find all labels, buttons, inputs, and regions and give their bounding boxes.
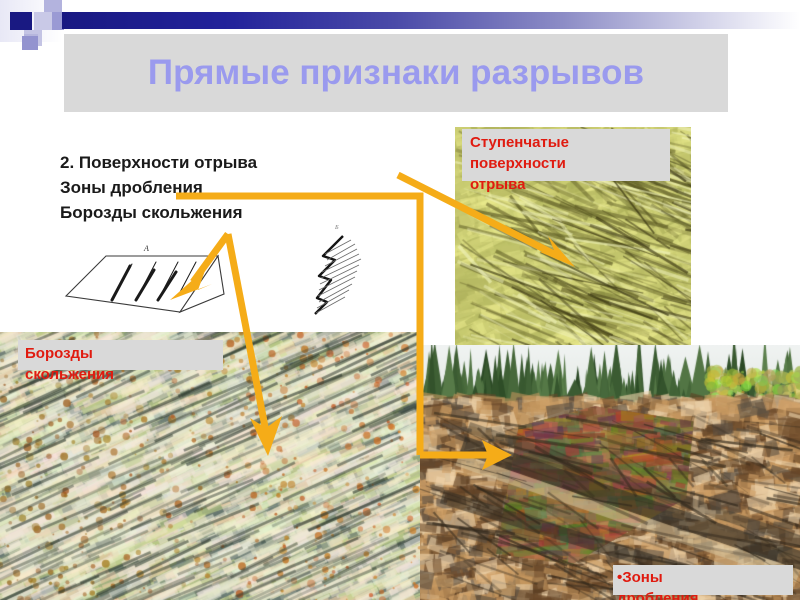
bullet-line-1: 2. Поверхности отрыва bbox=[60, 150, 390, 175]
lavender-square-a bbox=[34, 12, 52, 30]
stepped-fracture-diagram: Б bbox=[305, 220, 375, 320]
stepped-caption-line-1: Ступенчатые bbox=[470, 132, 569, 153]
navy-accent-bar bbox=[62, 12, 800, 29]
slip-plane-diagram: A bbox=[60, 240, 230, 330]
grooves-caption-line-2: скольжения bbox=[25, 364, 114, 385]
lavender-square-e bbox=[22, 36, 38, 50]
slide-canvas: Прямые признаки разрывов 2. Поверхности … bbox=[0, 0, 800, 600]
stepped-caption-line-2: поверхности bbox=[470, 153, 569, 174]
sketch-zigzag-label: Б bbox=[334, 225, 339, 231]
bullet-line-2: Зоны дробления bbox=[60, 175, 390, 200]
navy-square-deco bbox=[10, 12, 32, 30]
crush-zone-outcrop-photo bbox=[420, 345, 800, 600]
sketch-plane-label: A bbox=[143, 244, 149, 253]
stepped-caption: Ступенчатые поверхности отрыва bbox=[470, 132, 569, 195]
stepped-caption-line-3: отрыва bbox=[470, 174, 569, 195]
page-title: Прямые признаки разрывов bbox=[64, 42, 728, 104]
zones-caption-line-2: дробления bbox=[617, 588, 698, 600]
zones-caption-line-1: •Зоны bbox=[617, 567, 698, 588]
zones-caption: •Зоны дробления bbox=[617, 567, 698, 600]
grooves-caption-line-1: Борозды bbox=[25, 343, 114, 364]
grooves-caption: Борозды скольжения bbox=[25, 343, 114, 385]
bullet-text-block: 2. Поверхности отрыва Зоны дробления Бор… bbox=[60, 150, 390, 225]
